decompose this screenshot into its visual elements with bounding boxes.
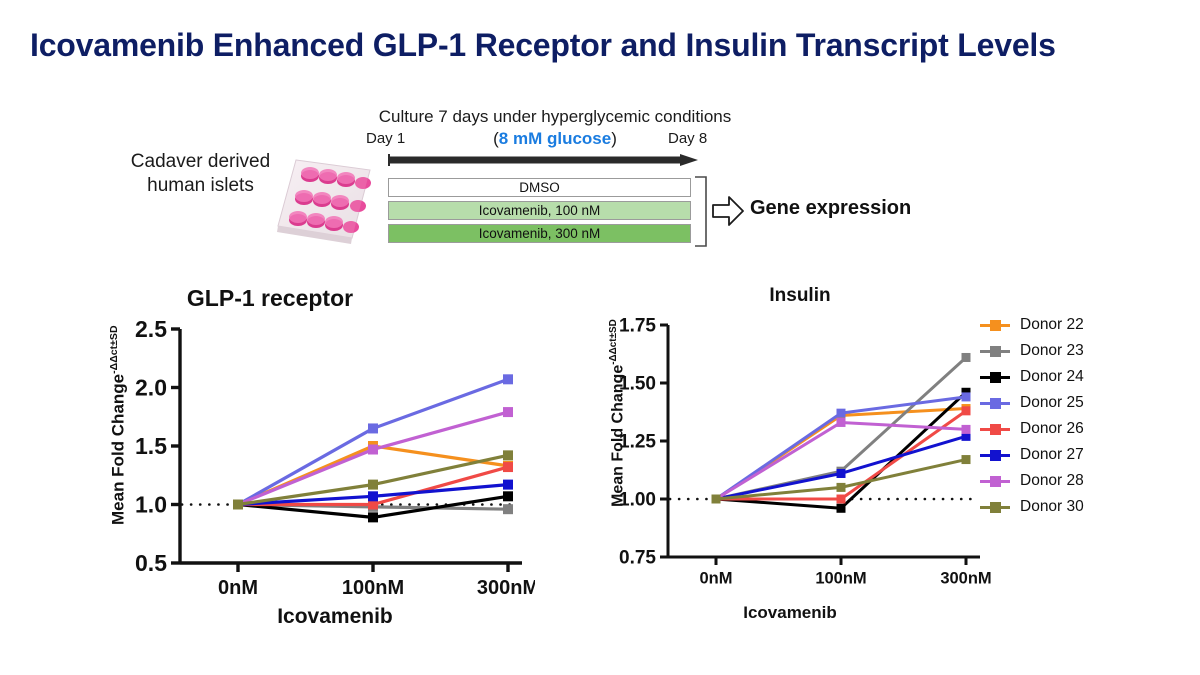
grouping-bracket — [693, 176, 709, 247]
legend-item[interactable]: Donor 27 — [980, 442, 1130, 468]
islet-source-line1: Cadaver derived — [118, 150, 283, 174]
day-start-label: Day 1 — [366, 130, 405, 147]
right-arrow-icon — [388, 154, 698, 166]
legend-item[interactable]: Donor 28 — [980, 468, 1130, 494]
legend-item[interactable]: Donor 30 — [980, 494, 1130, 520]
legend-item-label: Donor 23 — [1020, 342, 1084, 360]
gene-expression-readout-label: Gene expression — [750, 197, 911, 220]
legend-swatch-icon — [980, 474, 1010, 488]
x-axis-label-insulin: Icovamenib — [640, 603, 940, 623]
y-axis-tick-label: 1.5 — [135, 433, 167, 459]
legend-item-label: Donor 26 — [1020, 420, 1084, 438]
legend-item-label: Donor 27 — [1020, 446, 1084, 464]
experiment-schematic: Cadaver derived human islets — [0, 100, 1200, 270]
legend-item-label: Donor 25 — [1020, 394, 1084, 412]
treatment-bar-icovamenib-300nm: Icovamenib, 300 nM — [388, 224, 691, 243]
y-axis-tick-label: 0.75 — [619, 548, 656, 569]
x-axis-tick-label: 0nM — [700, 570, 733, 588]
legend-item-label: Donor 30 — [1020, 498, 1084, 516]
day-end-label: Day 8 — [668, 130, 707, 147]
page-title: Icovamenib Enhanced GLP-1 Receptor and I… — [30, 27, 1180, 64]
treatment-bar-dmso: DMSO — [388, 178, 691, 197]
y-axis-tick-label: 1.25 — [619, 432, 656, 453]
legend-swatch-icon — [980, 318, 1010, 332]
x-axis-label-glp1: Icovamenib — [185, 605, 485, 629]
y-axis-tick-label: 0.5 — [135, 550, 167, 576]
legend-item-label: Donor 22 — [1020, 316, 1084, 334]
paren-close: ) — [611, 129, 617, 148]
legend-swatch-icon — [980, 422, 1010, 436]
y-axis-tick-label: 1.00 — [619, 490, 656, 511]
legend-swatch-icon — [980, 370, 1010, 384]
islet-source-line2: human islets — [118, 174, 283, 198]
y-axis-tick-label: 2.5 — [135, 316, 167, 342]
legend-swatch-icon — [980, 500, 1010, 514]
y-axis-tick-label: 1.50 — [619, 374, 656, 395]
legend-item[interactable]: Donor 24 — [980, 364, 1130, 390]
treatment-bar-icovamenib-100nm: Icovamenib, 100 nM — [388, 201, 691, 220]
plot-area-glp1: 0.51.01.52.02.50nM100nM300nM — [95, 307, 535, 607]
legend-swatch-icon — [980, 396, 1010, 410]
legend-item[interactable]: Donor 22 — [980, 312, 1130, 338]
chart-title-insulin: Insulin — [600, 285, 1000, 307]
block-right-arrow-icon — [712, 196, 744, 226]
legend-item[interactable]: Donor 26 — [980, 416, 1130, 442]
y-axis-tick-label: 1.75 — [619, 316, 656, 337]
legend-item-label: Donor 24 — [1020, 368, 1084, 386]
legend-swatch-icon — [980, 448, 1010, 462]
chart-glp1-receptor: GLP-1 receptor Mean Fold Change-ΔΔct±SD … — [95, 285, 535, 640]
x-axis-tick-label: 100nM — [815, 570, 866, 588]
y-axis-tick-label: 1.0 — [135, 492, 167, 518]
glucose-concentration: 8 mM glucose — [499, 129, 611, 148]
x-axis-tick-label: 0nM — [218, 577, 258, 599]
y-axis-tick-label: 2.0 — [135, 375, 167, 401]
data-series — [712, 388, 971, 513]
x-axis-tick-label: 300nM — [940, 570, 991, 588]
x-axis-tick-label: 100nM — [342, 577, 404, 599]
legend-item[interactable]: Donor 23 — [980, 338, 1130, 364]
islet-source-label: Cadaver derived human islets — [118, 150, 283, 199]
12-well-plate-icon — [270, 152, 376, 252]
legend-item[interactable]: Donor 25 — [980, 390, 1130, 416]
plot-area-insulin: 0.751.001.251.501.750nM100nM300nM — [600, 307, 1000, 607]
legend-item-label: Donor 28 — [1020, 472, 1084, 490]
donor-legend: Donor 22Donor 23Donor 24Donor 25Donor 26… — [980, 312, 1130, 520]
legend-swatch-icon — [980, 344, 1010, 358]
x-axis-tick-label: 300nM — [477, 577, 535, 599]
chart-insulin: Insulin Mean Fold Change-ΔΔct±SD 0.751.0… — [600, 285, 1000, 640]
culture-conditions-line1: Culture 7 days under hyperglycemic condi… — [355, 106, 755, 128]
